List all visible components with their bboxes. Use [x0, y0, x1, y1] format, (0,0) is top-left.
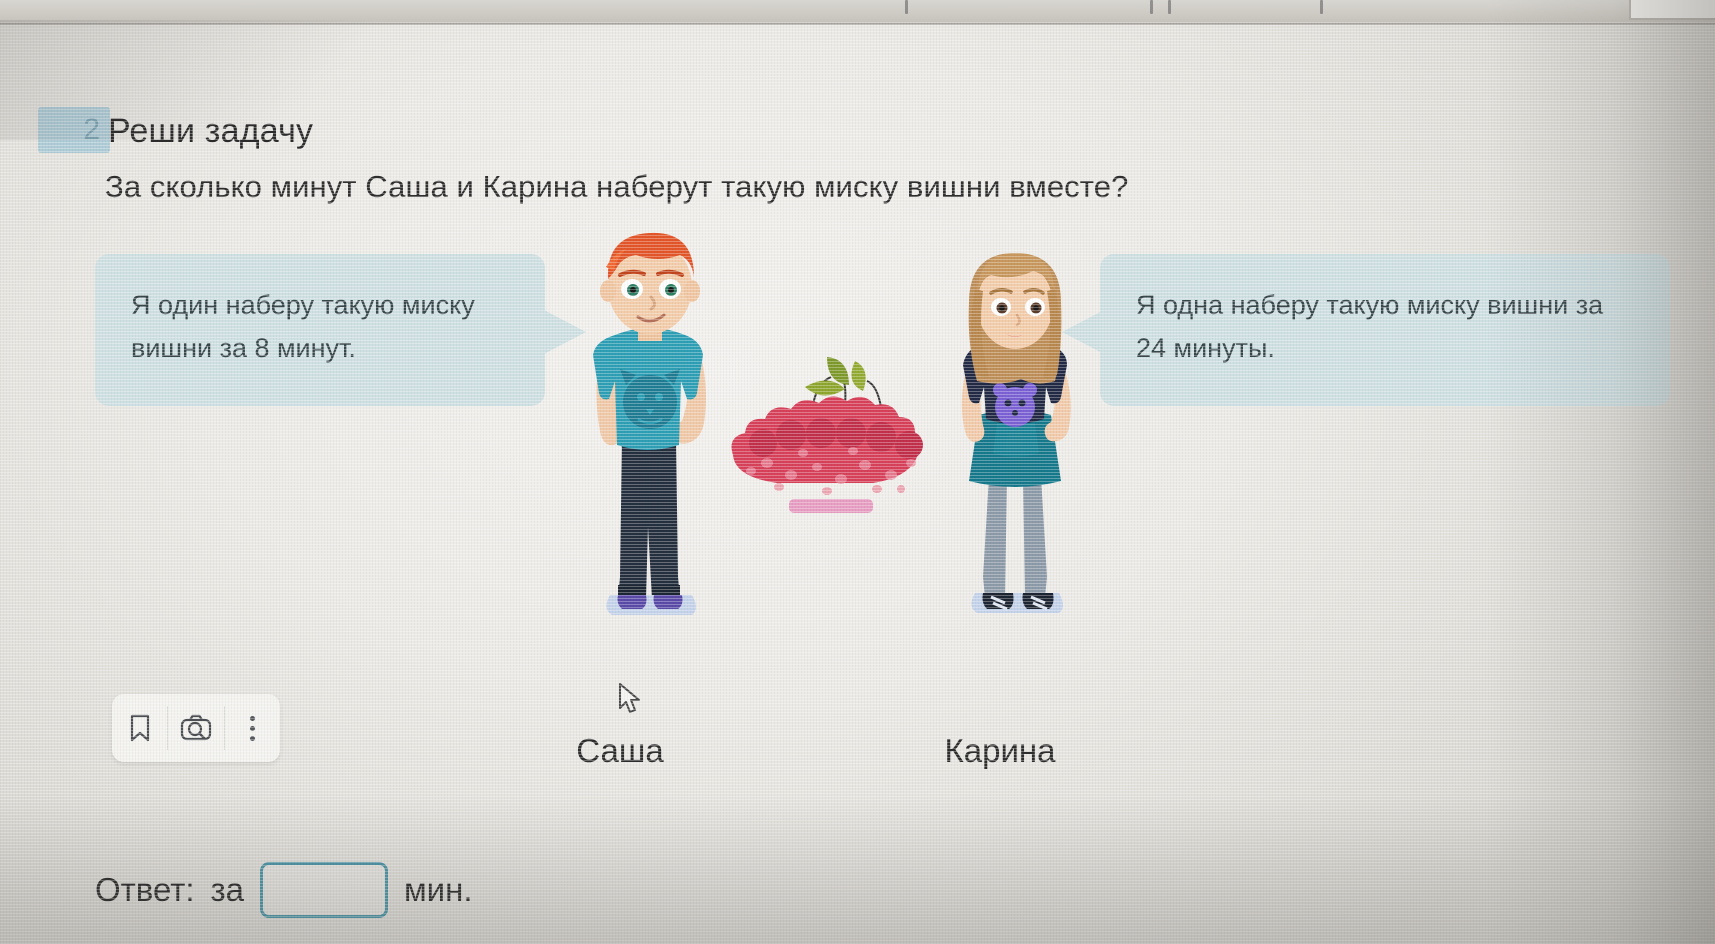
top-ui-mark [1168, 0, 1171, 14]
more-options-button[interactable] [225, 694, 280, 762]
top-ui-mark [905, 0, 908, 14]
top-ui-mark [1320, 0, 1323, 14]
page-title: Реши задачу [108, 112, 313, 151]
character-name-karina: Карина [870, 732, 1130, 770]
character-name-sasha: Саша [500, 732, 740, 770]
answer-input[interactable] [260, 862, 388, 918]
task-number-badge: 2 [38, 107, 110, 153]
answer-row: Ответ: за мин. [95, 862, 472, 918]
answer-label: Ответ: [95, 871, 194, 909]
photo-search-button[interactable] [168, 694, 223, 762]
speech-bubble-sasha: Я один наберу такую миску вишни за 8 мин… [95, 254, 545, 406]
character-girl-karina [935, 247, 1095, 642]
top-ui-mark [1150, 0, 1153, 14]
cut-off-panel-edge [1629, 0, 1715, 20]
three-dots-icon [250, 716, 255, 741]
mouse-cursor [618, 682, 644, 723]
cherry-bowl-illustration [705, 347, 955, 522]
speech-bubble-karina: Я одна наберу такую миску вишни за 24 ми… [1100, 254, 1670, 406]
bookmark-button[interactable] [112, 694, 167, 762]
top-bezel [0, 0, 1715, 24]
answer-preposition: за [210, 871, 243, 909]
photographed-screen: 2 Реши задачу За сколько минут Саша и Ка… [0, 0, 1715, 944]
bookmark-icon [128, 714, 152, 742]
lesson-content: 2 Реши задачу За сколько минут Саша и Ка… [0, 22, 1715, 944]
camera-search-icon [180, 714, 212, 742]
floating-toolbar [112, 694, 280, 762]
question-text: За сколько минут Саша и Карина наберут т… [105, 169, 1128, 205]
answer-unit: мин. [404, 871, 473, 909]
